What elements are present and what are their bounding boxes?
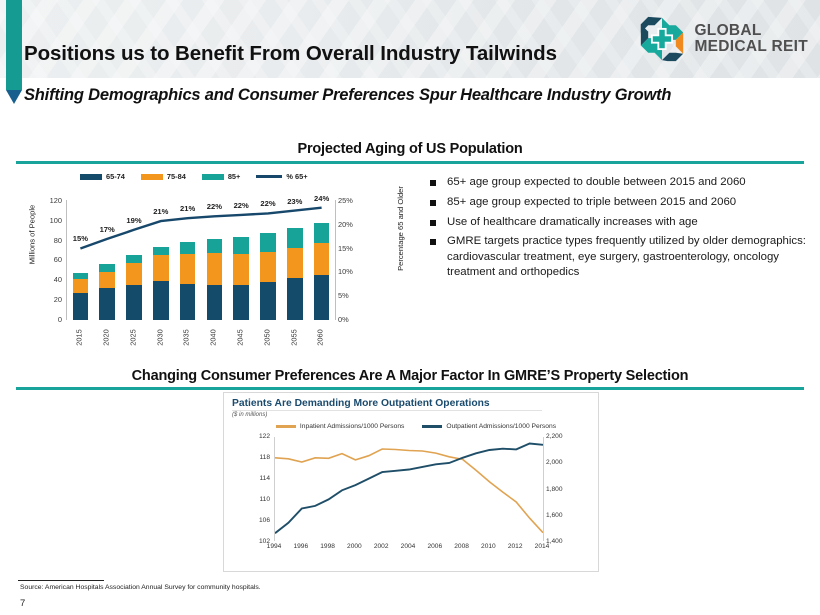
page-title: Positions us to Benefit From Overall Ind… [24,42,557,66]
bar-segment-65-74 [314,275,330,320]
legend-item-outpatient: Outpatient Admissions/1000 Persons [422,423,556,430]
stacked-bar [314,223,330,320]
bar-segment-65-74 [287,278,303,320]
x-tick-label: 2008 [454,543,469,550]
x-tick-label: 1996 [293,543,308,550]
y2-tick: 1,600 [546,512,563,519]
bar-segment-65-74 [233,285,249,321]
bar-segment-75-84 [99,272,115,289]
list-item-label: 85+ age group expected to triple between… [447,195,736,210]
x-tick: 2035 [173,324,200,356]
card-divider [232,410,542,411]
x-tick-label: 2012 [508,543,523,550]
y2-tick: 25% [338,196,353,205]
slide: Positions us to Benefit From Overall Ind… [0,0,820,615]
y-tick: 0 [58,315,62,324]
bar-column [147,200,174,320]
legend-label-65-74: 65-74 [106,172,125,181]
x-tick: 2050 [254,324,281,356]
y-tick: 122 [259,433,270,440]
x-tick-label: 1998 [320,543,335,550]
footer-divider [18,580,104,581]
bar-segment-85plus [126,255,142,263]
y-axis-label-right: Percentage 65 and Older [396,186,405,271]
bar-segment-85plus [207,239,223,254]
bar-segment-85plus [99,264,115,272]
stacked-bar [73,273,89,320]
bar-segment-65-74 [153,281,169,320]
plot-area-top: 15%17%19%21%21%22%22%22%23%24% [66,200,336,320]
list-item: Use of healthcare dramatically increases… [430,215,810,230]
x-tick-label: 2050 [262,329,271,345]
pct-data-label: 24% [314,194,329,203]
bullet-square-icon [430,239,436,245]
x-tick: 2025 [120,324,147,356]
x-axis-ticks-bottom: 1994199619982000200220042006200820102012… [274,543,542,557]
x-tick-label: 2010 [481,543,496,550]
stacked-bar [287,228,303,320]
pct-data-label: 17% [100,225,115,234]
x-tick-label: 2002 [374,543,389,550]
plot-area-bottom [274,437,544,541]
stacked-bar [233,237,249,321]
bar-column [308,200,335,320]
y2-tick: 20% [338,220,353,229]
section-rule-top [16,161,804,164]
stacked-bar [153,247,169,321]
bar-segment-75-84 [126,263,142,285]
section-heading-bottom: Changing Consumer Preferences Are A Majo… [0,368,820,384]
bar-segment-75-84 [233,254,249,285]
bullet-square-icon [430,200,436,206]
stacked-bar [99,264,115,320]
y-tick: 60 [54,255,62,264]
y2-tick: 10% [338,267,353,276]
legend-swatch-outpatient [422,425,442,428]
x-tick-label: 2006 [427,543,442,550]
stacked-bar [126,255,142,320]
list-item: GMRE targets practice types frequently u… [430,234,810,280]
legend-item-inpatient: Inpatient Admissions/1000 Persons [276,423,404,430]
x-tick: 2060 [307,324,334,356]
bar-segment-75-84 [314,243,330,276]
legend-item-75-84: 75-84 [141,172,186,181]
y-tick: 100 [50,216,62,225]
logo-wordmark: GLOBAL MEDICAL REIT [694,23,808,55]
legend-label-inpatient: Inpatient Admissions/1000 Persons [300,423,404,430]
bar-segment-85plus [233,237,249,254]
logo-line-1: GLOBAL [694,23,808,39]
y2-tick: 1,800 [546,486,563,493]
legend-swatch-pct65plus [256,175,282,178]
source-note: Source: American Hospitals Association A… [20,584,261,591]
pct-data-label: 21% [180,204,195,213]
x-tick: 2040 [200,324,227,356]
y-tick: 110 [259,496,270,503]
x-tick: 2015 [66,324,93,356]
list-item-label: GMRE targets practice types frequently u… [447,234,810,280]
bullet-square-icon [430,220,436,226]
page-subtitle: Shifting Demographics and Consumer Prefe… [24,86,671,105]
y2-tick: 2,000 [546,459,563,466]
bar-segment-85plus [180,242,196,254]
logo-line-2: MEDICAL REIT [694,39,808,55]
pct-data-label: 23% [287,197,302,206]
bar-segment-85plus [153,247,169,256]
y-axis-ticks-left: 120100806040200 [26,196,62,324]
outpatient-chart-card: Patients Are Demanding More Outpatient O… [223,392,599,572]
pct-data-label: 21% [153,207,168,216]
bar-segment-75-84 [260,252,276,282]
y2-tick: 15% [338,244,353,253]
list-item: 85+ age group expected to triple between… [430,195,810,210]
x-tick-label: 2040 [209,329,218,345]
bullet-list: 65+ age group expected to double between… [430,175,810,285]
y-tick: 106 [259,517,270,524]
x-tick: 2055 [280,324,307,356]
bar-column [281,200,308,320]
legend-label-75-84: 75-84 [167,172,186,181]
pct-data-label: 22% [207,202,222,211]
bar-segment-75-84 [73,279,89,293]
x-tick-label: 2014 [535,543,550,550]
bar-segment-75-84 [180,254,196,284]
bullet-square-icon [430,180,436,186]
stacked-bar [260,233,276,321]
bar-segment-65-74 [260,282,276,321]
x-tick-label: 2025 [128,329,137,345]
company-logo: GLOBAL MEDICAL REIT [639,16,808,62]
y2-tick: 2,200 [546,433,563,440]
aging-population-chart: 65-74 75-84 85+ % 65+ Millions of People… [18,172,408,357]
list-item-label: Use of healthcare dramatically increases… [447,215,698,230]
legend-label-85plus: 85+ [228,172,241,181]
x-tick-label: 2020 [102,329,111,345]
y-axis-ticks-right-bottom: 2,2002,0001,8001,6001,400 [546,433,582,545]
legend-item-85plus: 85+ [202,172,241,181]
x-tick-label: 2004 [401,543,416,550]
x-tick-label: 2015 [75,329,84,345]
x-tick-label: 2000 [347,543,362,550]
legend-swatch-65-74 [80,174,102,180]
legend-swatch-75-84 [141,174,163,180]
x-tick-label: 2055 [289,329,298,345]
y-tick: 120 [50,196,62,205]
y-tick: 80 [54,236,62,245]
y-tick: 20 [54,295,62,304]
chart-legend-bottom: Inpatient Admissions/1000 Persons Outpat… [246,423,586,430]
y2-tick: 0% [338,315,349,324]
bar-segment-65-74 [207,285,223,321]
section-rule-bottom [16,387,804,390]
pct-data-label: 19% [126,216,141,225]
legend-item-pct65plus: % 65+ [256,172,307,181]
section-heading-top: Projected Aging of US Population [0,141,820,157]
stacked-bar [180,242,196,321]
x-tick-label: 2060 [316,329,325,345]
card-subtitle: ($ in millions) [232,412,267,418]
page-number: 7 [20,598,25,609]
x-tick: 2030 [146,324,173,356]
chart-legend-top: 65-74 75-84 85+ % 65+ [80,172,308,181]
pct-data-label: 22% [260,199,275,208]
x-tick: 2020 [93,324,120,356]
bar-column [94,200,121,320]
bar-column [201,200,228,320]
bar-segment-65-74 [180,284,196,321]
bar-column [255,200,282,320]
bar-segment-75-84 [287,248,303,278]
pct-data-label: 22% [234,201,249,210]
list-item: 65+ age group expected to double between… [430,175,810,190]
legend-item-65-74: 65-74 [80,172,125,181]
bar-segment-85plus [287,228,303,248]
x-tick: 2045 [227,324,254,356]
bar-column [174,200,201,320]
stacked-bars [67,200,335,320]
y-tick: 114 [259,475,270,482]
y-axis-ticks-left-bottom: 122118114110106102 [238,433,270,545]
x-tick-label: 2030 [155,329,164,345]
bar-segment-85plus [314,223,330,243]
legend-label-pct65plus: % 65+ [286,172,307,181]
bar-segment-65-74 [99,288,115,320]
bar-segment-75-84 [207,253,223,285]
card-title: Patients Are Demanding More Outpatient O… [232,398,490,409]
x-tick-label: 1994 [267,543,282,550]
stacked-bar [207,239,223,321]
teal-accent-bar [6,0,22,90]
medical-cross-logo-icon [639,16,685,62]
x-tick-label: 2045 [236,329,245,345]
legend-swatch-85plus [202,174,224,180]
bar-segment-65-74 [126,285,142,321]
legend-label-outpatient: Outpatient Admissions/1000 Persons [446,423,556,430]
y2-tick: 5% [338,291,349,300]
bar-segment-75-84 [153,255,169,281]
y-axis-ticks-right: 25%20%15%10%5%0% [338,196,366,324]
bar-segment-85plus [260,233,276,252]
list-item-label: 65+ age group expected to double between… [447,175,746,190]
teal-arrow-icon [6,90,22,104]
bar-column [228,200,255,320]
bar-column [67,200,94,320]
pct-data-label: 15% [73,234,88,243]
bar-segment-65-74 [73,293,89,320]
x-tick-label: 2035 [182,329,191,345]
y-tick: 40 [54,275,62,284]
line-series-svg [275,437,543,541]
legend-swatch-inpatient [276,425,296,427]
x-axis-ticks-top: 2015202020252030203520402045205020552060 [66,324,334,356]
y-tick: 118 [259,454,270,461]
